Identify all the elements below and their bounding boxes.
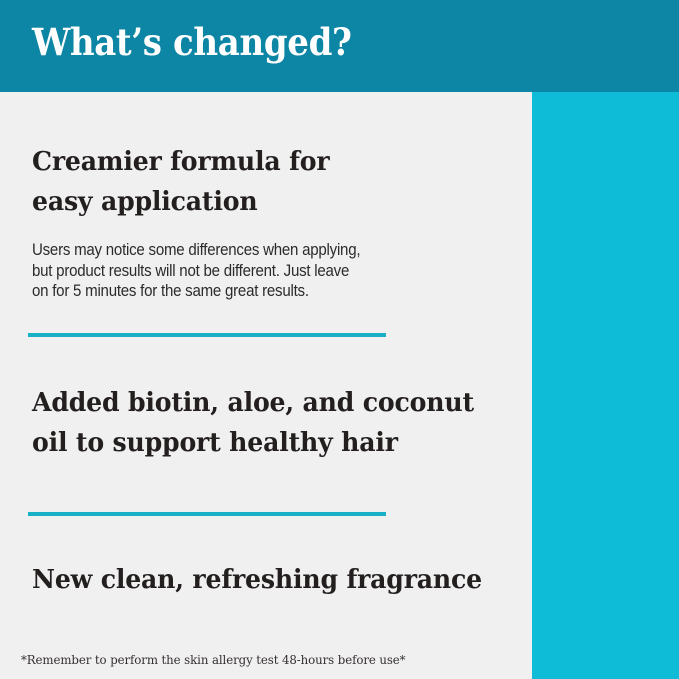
- section-1-body: Users may notice some differences when a…: [32, 240, 360, 302]
- section-divider-1: [28, 333, 386, 337]
- page-title: What’s changed?: [32, 18, 352, 66]
- section-1-heading: Creamier formula for easy application: [32, 142, 329, 222]
- header-band: What’s changed?: [0, 0, 679, 92]
- section-3: New clean, refreshing fragrance: [32, 560, 506, 600]
- section-2-heading: Added biotin, aloe, and coconut oil to s…: [32, 383, 474, 463]
- section-3-heading: New clean, refreshing fragrance: [32, 560, 482, 600]
- section-2: Added biotin, aloe, and coconut oil to s…: [32, 383, 497, 463]
- section-divider-2: [28, 512, 386, 516]
- content-panel: Creamier formula for easy application Us…: [0, 92, 532, 679]
- product-change-infographic: What’s changed? Creamier formula for eas…: [0, 0, 679, 679]
- right-accent-panel: [532, 92, 679, 679]
- section-1: Creamier formula for easy application: [32, 142, 345, 222]
- section-1-body-wrapper: Users may notice some differences when a…: [32, 240, 385, 302]
- allergy-test-footnote: *Remember to perform the skin allergy te…: [21, 652, 405, 668]
